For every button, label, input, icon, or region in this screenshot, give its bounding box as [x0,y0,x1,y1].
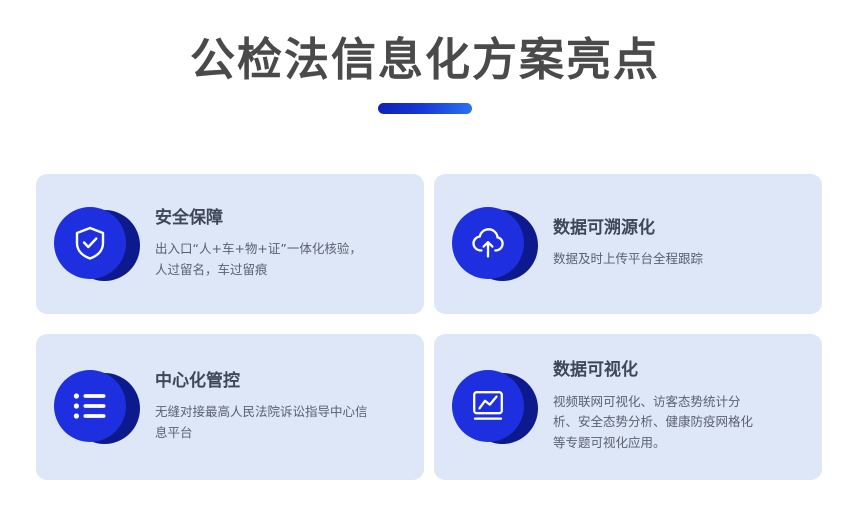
feature-card-data-visualization[interactable]: 数据可视化 视频联网可视化、访客态势统计分析、安全态势分析、健康防疫网格化等专题… [434,334,822,480]
feature-card-grid: 安全保障 出入口“人+车+物+证”一体化核验，人过留名，车过留痕 [36,174,822,480]
feature-card-data-traceability[interactable]: 数据可溯源化 数据及时上传平台全程跟踪 [434,174,822,314]
card-title: 数据可视化 [553,360,808,380]
card-text-block: 数据可视化 视频联网可视化、访客态势统计分析、安全态势分析、健康防疫网格化等专题… [553,360,808,453]
card-text-block: 数据可溯源化 数据及时上传平台全程跟踪 [553,218,808,270]
title-underline-accent [378,103,472,114]
icon-front-circle [54,207,126,279]
icon-medallion [451,370,537,444]
card-title: 数据可溯源化 [553,218,808,238]
card-description: 无缝对接最高人民法院诉讼指导中心信息平台 [155,402,371,443]
card-text-block: 中心化管控 无缝对接最高人民法院诉讼指导中心信息平台 [155,371,410,444]
feature-card-centralized-control[interactable]: 中心化管控 无缝对接最高人民法院诉讼指导中心信息平台 [36,334,424,480]
icon-medallion [451,207,537,281]
card-description: 视频联网可视化、访客态势统计分析、安全态势分析、健康防疫网格化等专题可视化应用。 [553,392,757,454]
bullet-list-icon [73,392,107,420]
page-header: 公检法信息化方案亮点 [0,0,850,114]
card-title: 安全保障 [155,208,410,228]
feature-highlights-page: 公检法信息化方案亮点 安全保障 出入口“人+车+物+证”一体化核验，人 [0,0,850,516]
card-text-block: 安全保障 出入口“人+车+物+证”一体化核验，人过留名，车过留痕 [155,208,410,281]
icon-front-circle [452,207,524,279]
icon-front-circle [54,370,126,442]
feature-card-security[interactable]: 安全保障 出入口“人+车+物+证”一体化核验，人过留名，车过留痕 [36,174,424,314]
icon-medallion [53,370,139,444]
card-description: 数据及时上传平台全程跟踪 [553,249,808,270]
page-title: 公检法信息化方案亮点 [0,34,850,86]
chart-monitor-icon [470,389,506,423]
card-title: 中心化管控 [155,371,410,391]
shield-check-icon [73,225,107,261]
cloud-upload-icon [469,226,507,260]
icon-front-circle [452,370,524,442]
card-description: 出入口“人+车+物+证”一体化核验，人过留名，车过留痕 [155,239,371,280]
icon-medallion [53,207,139,281]
